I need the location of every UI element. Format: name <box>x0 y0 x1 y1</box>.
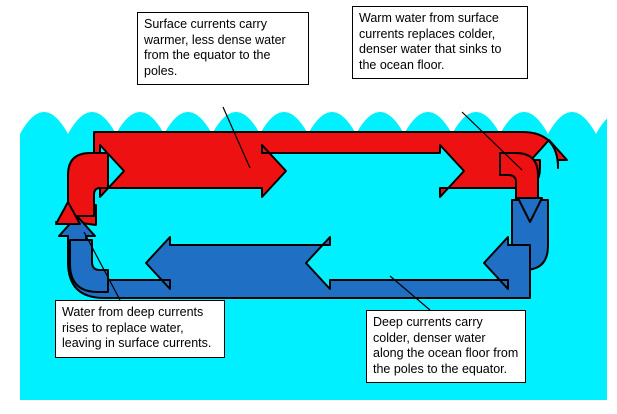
callout-deep-currents: Deep currents carry colder, denser water… <box>366 310 526 383</box>
callout-surface-currents: Surface currents carry warmer, less dens… <box>137 12 309 85</box>
right-margin <box>607 0 617 414</box>
left-margin <box>0 0 20 414</box>
diagram-canvas: Surface currents carry warmer, less dens… <box>0 0 617 414</box>
bottom-margin <box>0 400 617 414</box>
callout-upwelling: Water from deep currents rises to replac… <box>55 300 225 358</box>
callout-warm-water-sinking: Warm water from surface currents replace… <box>352 6 528 79</box>
